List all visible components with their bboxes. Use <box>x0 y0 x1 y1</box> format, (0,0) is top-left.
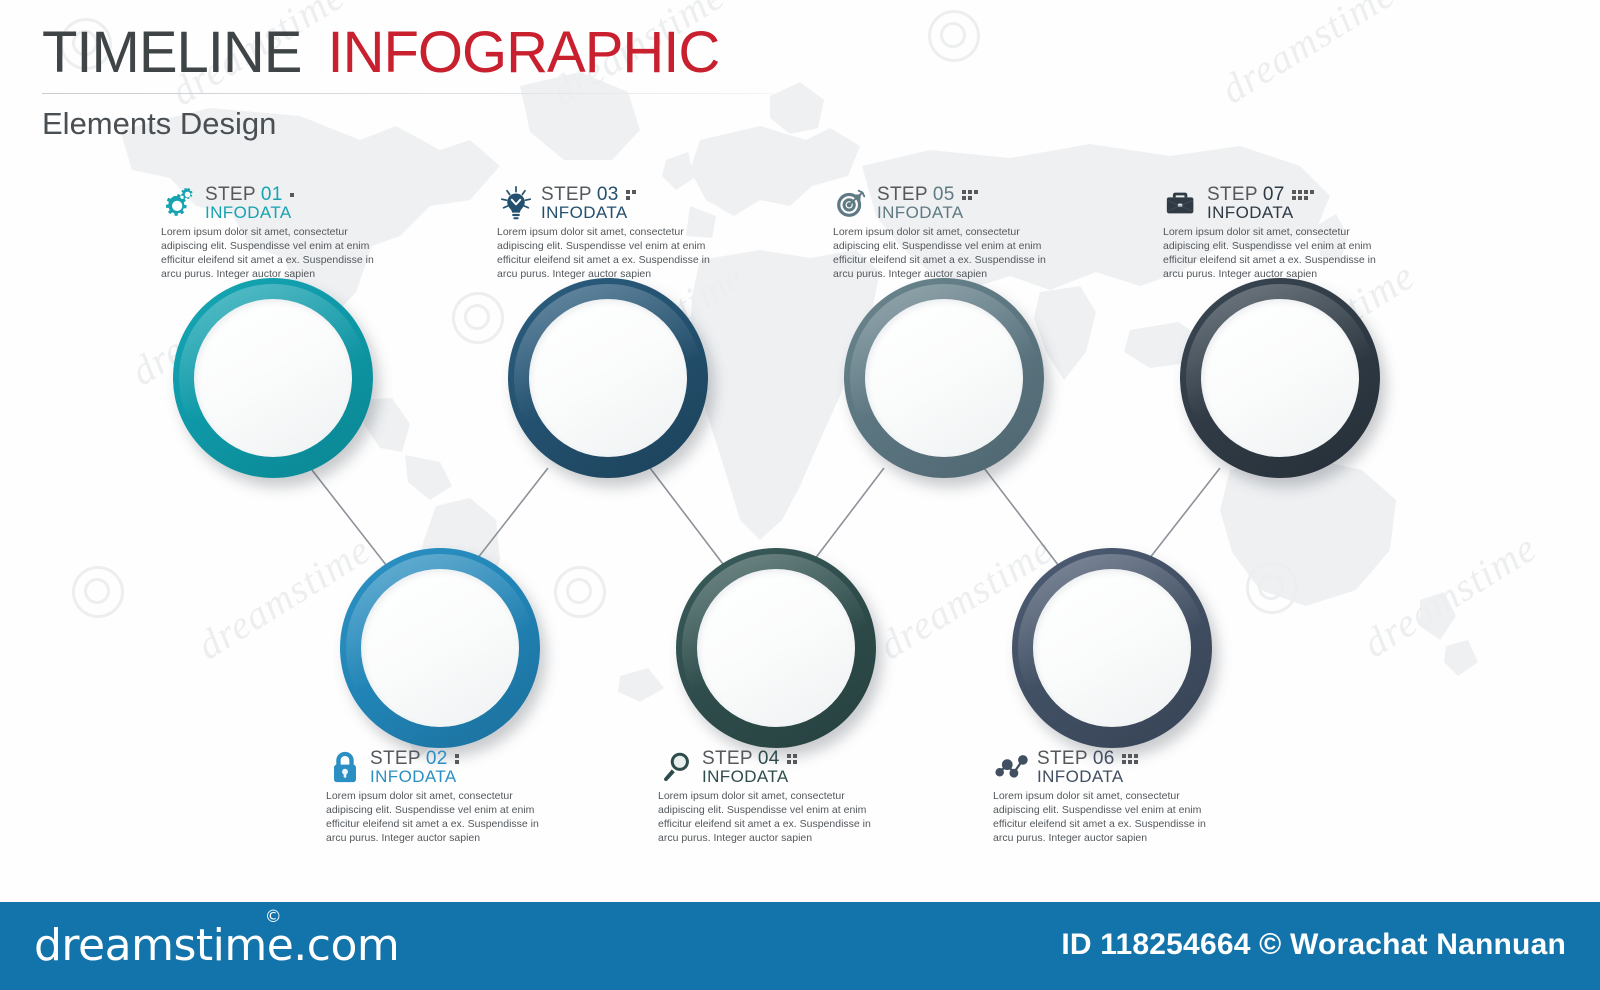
step-description: Lorem ipsum dolor sit amet, consectetur … <box>1163 226 1378 282</box>
network-nodes-icon <box>993 749 1031 785</box>
step-circle-4[interactable] <box>676 548 876 748</box>
step-subtitle: INFODATA <box>1037 767 1208 787</box>
step-circle-2[interactable] <box>340 548 540 748</box>
circle-inner-face <box>1201 299 1359 457</box>
circle-inner-face <box>865 299 1023 457</box>
step-description: Lorem ipsum dolor sit amet, consectetur … <box>658 790 873 846</box>
step-titles: STEP 07 INFODATA <box>1207 184 1378 223</box>
step-circle-7[interactable] <box>1180 278 1380 478</box>
step-header: STEP 07 INFODATA <box>1163 184 1378 223</box>
step-subtitle: INFODATA <box>370 767 541 787</box>
step-header: STEP 05 INFODATA <box>833 184 1048 223</box>
watermark-text: dreamstime <box>1212 0 1402 113</box>
step-subtitle: INFODATA <box>541 203 712 223</box>
step-block-6[interactable]: STEP 06 INFODATA Lorem ipsum dolor sit a… <box>993 748 1208 846</box>
step-header: STEP 02 INFODATA <box>326 748 541 787</box>
connector-4-5 <box>808 468 884 568</box>
magnifier-icon <box>658 749 696 785</box>
gears-icon <box>161 185 199 221</box>
step-titles: STEP 01 INFODATA <box>205 184 376 223</box>
step-subtitle: INFODATA <box>205 203 376 223</box>
circle-inner-face <box>529 299 687 457</box>
lightbulb-icon <box>497 185 535 221</box>
circle-inner-face <box>697 569 855 727</box>
step-description: Lorem ipsum dolor sit amet, consectetur … <box>993 790 1208 846</box>
title-divider <box>42 93 772 94</box>
stock-footer-bar: dreamstime.com © ID 118254664 © Worachat… <box>0 902 1600 990</box>
step-description: Lorem ipsum dolor sit amet, consectetur … <box>161 226 376 282</box>
step-circle-1[interactable] <box>173 278 373 478</box>
briefcase-icon <box>1163 185 1201 221</box>
watermark-text: dreamstime <box>1354 524 1544 667</box>
step-dot-grid <box>787 754 797 764</box>
step-dot-grid <box>626 190 636 200</box>
brand-text: dreamstime.com <box>34 920 399 971</box>
step-dot-grid <box>1292 190 1314 200</box>
connector-3-4 <box>650 468 726 568</box>
step-subtitle: INFODATA <box>1207 203 1378 223</box>
step-block-7[interactable]: STEP 07 INFODATA Lorem ipsum dolor sit a… <box>1163 184 1378 282</box>
step-description: Lorem ipsum dolor sit amet, consectetur … <box>833 226 1048 282</box>
page-subtitle: Elements Design <box>42 106 782 142</box>
connector-2-3 <box>470 468 548 568</box>
step-header: STEP 01 INFODATA <box>161 184 376 223</box>
circle-inner-face <box>1033 569 1191 727</box>
step-dot-grid <box>455 754 459 764</box>
page-header: TIMELINE INFOGRAPHIC Elements Design <box>42 24 782 142</box>
step-subtitle: INFODATA <box>877 203 1048 223</box>
step-block-3[interactable]: STEP 03 INFODATA Lorem ipsum dolor sit a… <box>497 184 712 282</box>
connector-6-7 <box>1142 468 1220 568</box>
step-header: STEP 06 INFODATA <box>993 748 1208 787</box>
dreamstime-logo: dreamstime.com © <box>34 920 399 971</box>
step-description: Lorem ipsum dolor sit amet, consectetur … <box>497 226 712 282</box>
title-infographic: INFOGRAPHIC <box>328 24 720 82</box>
registered-mark-icon: © <box>265 907 282 927</box>
step-block-4[interactable]: STEP 04 INFODATA Lorem ipsum dolor sit a… <box>658 748 873 846</box>
step-titles: STEP 03 INFODATA <box>541 184 712 223</box>
lock-icon <box>326 749 364 785</box>
page-title: TIMELINE INFOGRAPHIC <box>42 24 782 82</box>
step-titles: STEP 06 INFODATA <box>1037 748 1208 787</box>
circle-inner-face <box>194 299 352 457</box>
step-header: STEP 03 INFODATA <box>497 184 712 223</box>
step-circle-6[interactable] <box>1012 548 1212 748</box>
step-subtitle: INFODATA <box>702 767 873 787</box>
step-circle-3[interactable] <box>508 278 708 478</box>
step-titles: STEP 02 INFODATA <box>370 748 541 787</box>
step-description: Lorem ipsum dolor sit amet, consectetur … <box>326 790 541 846</box>
connector-1-2 <box>312 470 390 570</box>
circle-inner-face <box>361 569 519 727</box>
title-timeline: TIMELINE <box>42 24 302 82</box>
step-block-1[interactable]: STEP 01 INFODATA Lorem ipsum dolor sit a… <box>161 184 376 282</box>
step-header: STEP 04 INFODATA <box>658 748 873 787</box>
step-block-2[interactable]: STEP 02 INFODATA Lorem ipsum dolor sit a… <box>326 748 541 846</box>
step-dot-grid <box>1122 754 1138 764</box>
step-circle-5[interactable] <box>844 278 1044 478</box>
infographic-canvas: dreamstime dreamstime dreamstime dreamst… <box>0 0 1600 990</box>
target-icon <box>833 185 871 221</box>
step-block-5[interactable]: STEP 05 INFODATA Lorem ipsum dolor sit a… <box>833 184 1048 282</box>
step-titles: STEP 05 INFODATA <box>877 184 1048 223</box>
step-titles: STEP 04 INFODATA <box>702 748 873 787</box>
connector-5-6 <box>984 468 1062 570</box>
step-dot-grid <box>962 190 978 200</box>
image-credit: ID 118254664 © Worachat Nannuan <box>1061 928 1566 962</box>
step-dot-grid <box>290 193 294 197</box>
